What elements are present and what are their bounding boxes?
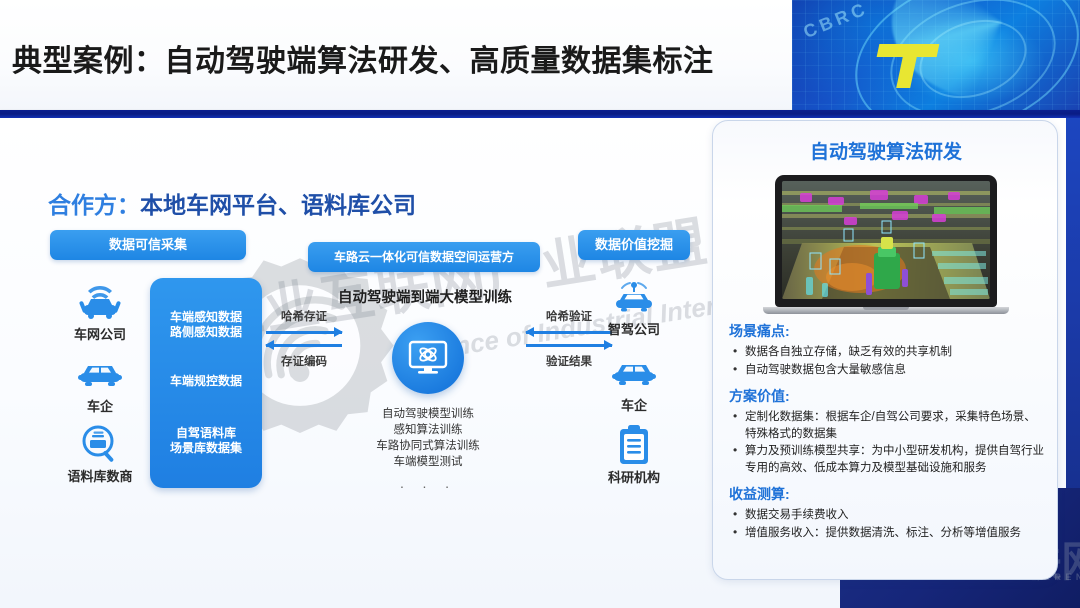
data-group-3: 自驾语料库 场景库数据集 [150,426,262,456]
tech-decoration-graphic: CBRC [792,0,1080,118]
actor-label: 车网公司 [54,324,146,343]
panel-title: 自动驾驶算法研发 [713,137,1058,164]
process-diagram: 合作方：本地车网平台、语料库公司 数据可信采集 车路云一体化可信数据空间运营方 … [18,170,698,538]
actor-label: 语料库数商 [48,466,152,485]
corpus-search-icon [48,424,152,464]
actor-label: 科研机构 [582,467,686,486]
page-title: 典型案例：自动驾驶端算法研发、高质量数据集标注 [12,36,714,80]
arrow-right-icon [266,327,342,337]
clipboard-research-icon [582,424,686,466]
arrow-group-hash-storage: 哈希存证 存证编码 [266,308,342,369]
bullet-item: 增值服务收入：提供数据清洗、标注、分析等增值服务 [729,525,1047,542]
center-training-title: 自动驾驶端到端大模型训练 [318,286,532,307]
bullet-item: 自动驾驶数据包含大量敏感信息 [729,362,1047,379]
data-line: 场景库数据集 [150,441,262,456]
data-line: 路侧感知数据 [150,325,262,340]
data-line: 自驾语料库 [150,426,262,441]
bullet-item: 数据交易手续费收入 [729,507,1047,524]
section-heading-pain-points: 场景痛点: [729,321,1047,341]
collected-data-box: 车端感知数据 路侧感知数据 车端规控数据 自驾语料库 场景库数据集 [150,278,262,488]
training-item: 车端模型测试 [344,454,512,470]
arrow-left-icon [266,340,342,350]
stage-pill-value-mining[interactable]: 数据价值挖掘 [578,230,690,260]
training-item: 感知算法训练 [344,422,512,438]
arrow-label-top: 哈希存证 [266,308,342,324]
t-logo-icon [878,44,942,88]
stage-pill-collection[interactable]: 数据可信采集 [50,230,246,260]
model-training-monitor-icon [392,322,464,394]
bullet-item: 算力及预训练模型共享：为中小型研发机构，提供自驾行业专用的高效、低成本算力及模型… [729,443,1047,476]
actor-automaker-right[interactable]: 车企 [586,352,682,414]
training-item: 车路协同式算法训练 [344,438,512,454]
bullet-item: 数据各自独立存储，缺乏有效的共享机制 [729,344,1047,361]
laptop-preview [775,175,997,314]
car-icon [586,352,682,394]
arrow-label-bottom: 存证编码 [266,353,342,369]
laptop-base [763,307,1009,314]
section-heading-solution-value: 方案价值: [729,386,1047,406]
data-group-2: 车端规控数据 [150,374,262,389]
bullet-item: 定制化数据集：根据车企/自驾公司要求，采集特色场景、特殊格式的数据集 [729,409,1047,442]
data-line: 车端规控数据 [150,374,262,389]
case-detail-panel: 自动驾驶算法研发 [712,120,1058,580]
laptop-lid [775,175,997,307]
actor-label: 智驾公司 [586,319,682,338]
training-item: 自动驾驶模型训练 [344,406,512,422]
arrow-right-icon [526,340,612,350]
actor-corpus-vendor[interactable]: 语料库数商 [48,424,152,485]
actor-smart-driving-company[interactable]: 智驾公司 [586,276,682,338]
data-line: 车端感知数据 [150,310,262,325]
smart-driving-car-icon [586,276,682,318]
point-cloud-image [782,181,990,299]
stage-pill-operator[interactable]: 车路云一体化可信数据空间运营方 [308,242,540,272]
connected-car-icon [54,282,146,322]
car-icon [54,354,146,394]
partner-label: 合作方： [48,192,140,218]
panel-sections: 场景痛点: 数据各自独立存储，缺乏有效的共享机制 自动驾驶数据包含大量敏感信息 … [729,321,1047,542]
center-training-items: 自动驾驶模型训练 感知算法训练 车路协同式算法训练 车端模型测试 [344,406,512,470]
actor-label: 车企 [54,396,146,415]
slide-canvas: 典型案例：自动驾驶端算法研发、高质量数据集标注 CBRC [0,0,1080,608]
center-more-indicator: · · · [344,478,512,494]
actor-research-institute[interactable]: 科研机构 [582,424,686,486]
actor-telematics-company[interactable]: 车网公司 [54,282,146,343]
partner-line: 合作方：本地车网平台、语料库公司 [48,186,416,220]
partner-value: 本地车网平台、语料库公司 [140,192,416,218]
section-heading-revenue: 收益测算: [729,484,1047,504]
actor-label: 车企 [586,395,682,414]
data-group-1: 车端感知数据 路侧感知数据 [150,310,262,340]
actor-automaker[interactable]: 车企 [54,354,146,415]
title-divider-bar [0,110,1080,118]
